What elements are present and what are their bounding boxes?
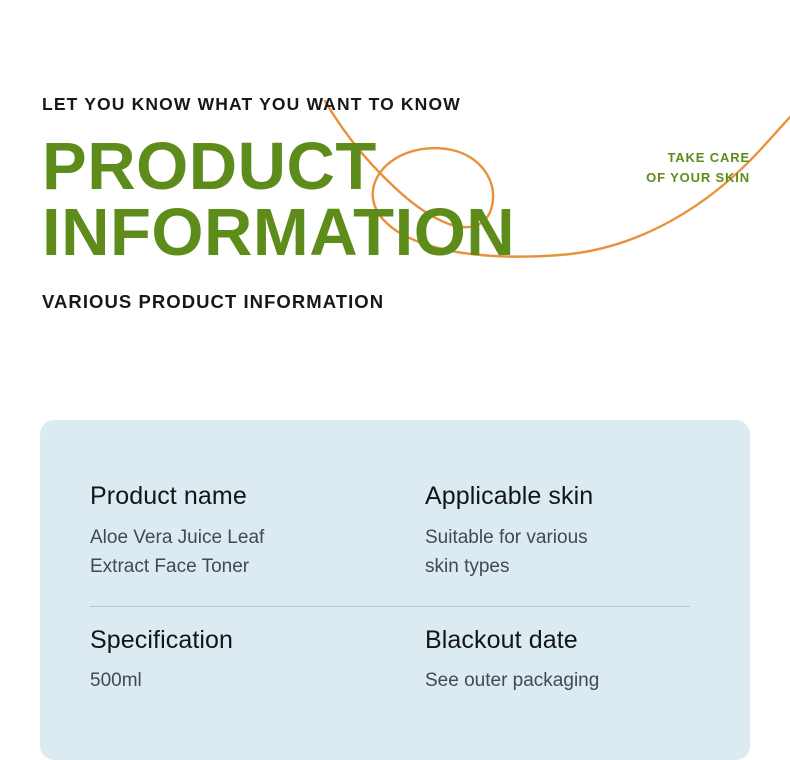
info-value-line: 500ml — [90, 667, 395, 696]
info-value-line: See outer packaging — [425, 667, 700, 696]
hero-text-block: LET YOU KNOW WHAT YOU WANT TO KNOW PRODU… — [42, 96, 752, 312]
info-label: Applicable skin — [425, 482, 700, 511]
page-title-line-2: INFORMATION — [42, 201, 752, 265]
info-value: Aloe Vera Juice Leaf Extract Face Toner — [90, 524, 395, 582]
info-label: Blackout date — [425, 626, 700, 655]
info-label: Product name — [90, 482, 395, 511]
tagline-line-1: TAKE CARE — [646, 148, 750, 168]
info-value-line: skin types — [425, 553, 700, 582]
tagline: TAKE CARE OF YOUR SKIN — [646, 148, 750, 188]
product-info-card: Product name Aloe Vera Juice Leaf Extrac… — [40, 420, 750, 760]
info-value: See outer packaging — [425, 667, 700, 696]
hero-eyebrow: LET YOU KNOW WHAT YOU WANT TO KNOW — [42, 96, 752, 114]
info-label: Specification — [90, 626, 395, 655]
info-cell-specification: Specification 500ml — [90, 626, 395, 697]
info-value-line: Aloe Vera Juice Leaf — [90, 524, 395, 553]
product-information-banner: LET YOU KNOW WHAT YOU WANT TO KNOW PRODU… — [0, 0, 790, 746]
info-cell-blackout-date: Blackout date See outer packaging — [395, 626, 700, 697]
info-value-line: Suitable for various — [425, 524, 700, 553]
hero-subheading: VARIOUS PRODUCT INFORMATION — [42, 293, 752, 312]
info-row: Product name Aloe Vera Juice Leaf Extrac… — [90, 420, 700, 606]
info-value: 500ml — [90, 667, 395, 696]
info-cell-applicable-skin: Applicable skin Suitable for various ski… — [395, 482, 700, 582]
info-value: Suitable for various skin types — [425, 524, 700, 582]
info-cell-product-name: Product name Aloe Vera Juice Leaf Extrac… — [90, 482, 395, 582]
row-divider — [90, 606, 690, 607]
tagline-line-2: OF YOUR SKIN — [646, 168, 750, 188]
info-value-line: Extract Face Toner — [90, 553, 395, 582]
info-row: Specification 500ml Blackout date See ou… — [90, 606, 700, 697]
